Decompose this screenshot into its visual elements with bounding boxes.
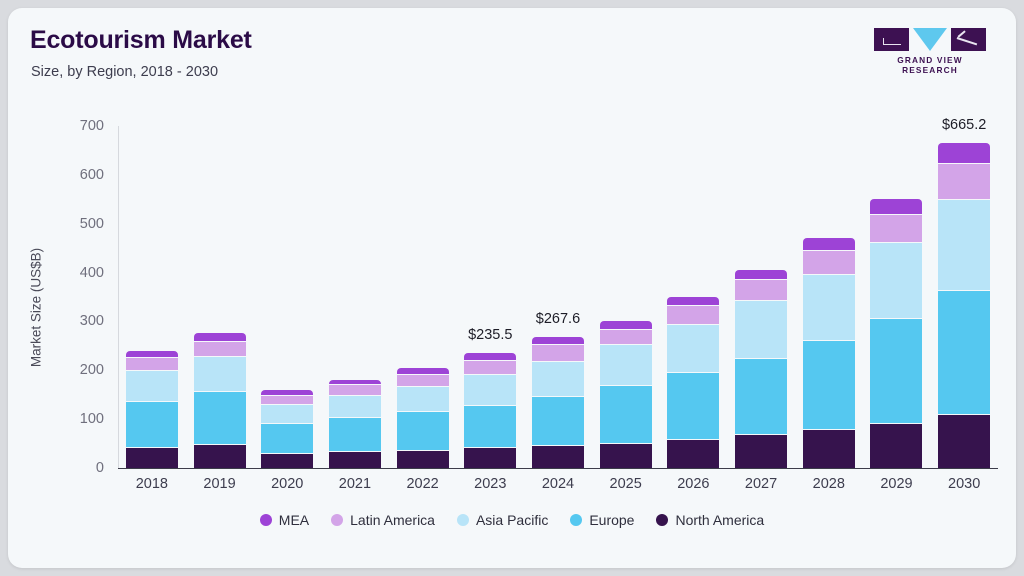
bar-group[interactable]: $665.22030 <box>930 104 998 468</box>
bar-group[interactable]: 2026 <box>660 104 728 468</box>
legend-swatch-icon <box>260 514 272 526</box>
x-axis-tick: 2027 <box>745 476 777 492</box>
bar-segment[interactable] <box>870 423 922 468</box>
x-axis-tick: 2026 <box>677 476 709 492</box>
bar-stack <box>261 390 313 468</box>
bar-segment[interactable] <box>667 372 719 438</box>
bar-segment[interactable] <box>532 337 584 344</box>
bar-segment[interactable] <box>938 143 990 163</box>
legend-label: Europe <box>589 512 634 528</box>
bar-group[interactable]: 2025 <box>592 104 660 468</box>
bar-stack <box>667 297 719 468</box>
bar-group[interactable]: 2021 <box>321 104 389 468</box>
bar-segment[interactable] <box>464 360 516 374</box>
bar-stack <box>532 337 584 468</box>
bar-segment[interactable] <box>261 395 313 404</box>
x-axis-tick: 2030 <box>948 476 980 492</box>
x-axis-tick: 2029 <box>880 476 912 492</box>
bar-value-label: $267.6 <box>536 311 580 327</box>
bar-stack <box>803 238 855 468</box>
legend-swatch-icon <box>331 514 343 526</box>
bar-stack <box>464 353 516 468</box>
bar-segment[interactable] <box>397 374 449 386</box>
legend-item[interactable]: North America <box>656 512 764 528</box>
logo-box-g-icon <box>874 28 909 51</box>
logo-triangle-icon <box>913 28 947 51</box>
bar-segment[interactable] <box>735 358 787 435</box>
bar-segment[interactable] <box>532 396 584 446</box>
bar-segment[interactable] <box>532 445 584 468</box>
bar-stack <box>126 351 178 468</box>
y-axis-tick: 200 <box>60 362 104 378</box>
x-axis-tick: 2019 <box>203 476 235 492</box>
bar-segment[interactable] <box>735 434 787 468</box>
y-axis-tick: 600 <box>60 167 104 183</box>
legend-label: Asia Pacific <box>476 512 548 528</box>
bar-segment[interactable] <box>803 274 855 339</box>
logo-box-r-icon <box>951 28 986 51</box>
bar-segment[interactable] <box>126 447 178 468</box>
bar-segment[interactable] <box>870 214 922 242</box>
bar-segment[interactable] <box>532 344 584 360</box>
bar-segment[interactable] <box>532 361 584 396</box>
bar-segment[interactable] <box>600 344 652 385</box>
bar-stack <box>397 368 449 468</box>
x-axis-tick: 2018 <box>136 476 168 492</box>
page-title: Ecotourism Market <box>30 26 252 55</box>
legend-label: North America <box>675 512 764 528</box>
bar-group[interactable]: 2028 <box>795 104 863 468</box>
legend-label: Latin America <box>350 512 435 528</box>
y-axis-ticks: 0100200300400500600700 <box>60 104 104 468</box>
bar-stack <box>938 143 990 468</box>
x-axis-tick: 2028 <box>813 476 845 492</box>
bar-segment[interactable] <box>803 238 855 250</box>
bar-segment[interactable] <box>735 270 787 280</box>
bar-segment[interactable] <box>870 318 922 423</box>
bar-segment[interactable] <box>261 404 313 423</box>
bar-segment[interactable] <box>803 250 855 274</box>
bar-segment[interactable] <box>329 417 381 451</box>
bar-segment[interactable] <box>600 329 652 345</box>
bar-segment[interactable] <box>126 357 178 370</box>
bar-stack <box>329 380 381 468</box>
bar-segment[interactable] <box>938 414 990 468</box>
chart-subtitle: Size, by Region, 2018 - 2030 <box>31 64 218 80</box>
bar-group[interactable]: $235.52023 <box>456 104 524 468</box>
chart-plot-area: Market Size (US$B) 010020030040050060070… <box>8 104 1016 568</box>
y-axis-tick: 700 <box>60 118 104 134</box>
bar-segment[interactable] <box>464 405 516 448</box>
chart-legend: MEALatin AmericaAsia PacificEuropeNorth … <box>8 512 1016 528</box>
y-axis-tick: 0 <box>60 460 104 476</box>
bar-segment[interactable] <box>667 305 719 324</box>
x-axis-line <box>118 468 998 469</box>
bar-segment[interactable] <box>667 297 719 306</box>
legend-swatch-icon <box>656 514 668 526</box>
x-axis-tick: 2020 <box>271 476 303 492</box>
bar-segment[interactable] <box>194 356 246 391</box>
bar-series-container: 20182019202020212022$235.52023$267.62024… <box>118 104 998 468</box>
bar-segment[interactable] <box>667 324 719 372</box>
legend-item[interactable]: MEA <box>260 512 309 528</box>
y-axis-tick: 100 <box>60 411 104 427</box>
y-axis-tick: 400 <box>60 265 104 281</box>
bar-segment[interactable] <box>329 384 381 395</box>
x-axis-tick: 2021 <box>339 476 371 492</box>
bar-segment[interactable] <box>194 333 246 340</box>
logo-g-glyph <box>883 38 901 45</box>
bar-stack <box>194 333 246 468</box>
bar-segment[interactable] <box>194 391 246 444</box>
legend-item[interactable]: Latin America <box>331 512 435 528</box>
bar-segment[interactable] <box>870 199 922 213</box>
bar-segment[interactable] <box>397 386 449 411</box>
legend-label: MEA <box>279 512 309 528</box>
chart-header: Ecotourism Market Size, by Region, 2018 … <box>8 8 1016 104</box>
bar-value-label: $665.2 <box>942 117 986 133</box>
bar-segment[interactable] <box>735 300 787 357</box>
bar-segment[interactable] <box>938 163 990 200</box>
bar-segment[interactable] <box>600 321 652 329</box>
bar-stack <box>735 270 787 468</box>
bar-segment[interactable] <box>938 199 990 289</box>
bar-group[interactable]: 2018 <box>118 104 186 468</box>
bar-segment[interactable] <box>600 443 652 468</box>
x-axis-tick: 2023 <box>474 476 506 492</box>
bar-segment[interactable] <box>803 429 855 468</box>
logo-r-glyph <box>957 34 979 45</box>
x-axis-tick: 2024 <box>542 476 574 492</box>
y-axis-tick: 500 <box>60 216 104 232</box>
bar-segment[interactable] <box>261 453 313 468</box>
bar-segment[interactable] <box>329 451 381 468</box>
bar-segment[interactable] <box>667 439 719 468</box>
bar-segment[interactable] <box>464 374 516 404</box>
brand-logo: GRAND VIEW RESEARCH <box>874 28 986 70</box>
legend-item[interactable]: Europe <box>570 512 634 528</box>
bar-segment[interactable] <box>600 385 652 442</box>
bar-group[interactable]: 2029 <box>863 104 931 468</box>
bar-segment[interactable] <box>735 279 787 300</box>
logo-text: GRAND VIEW RESEARCH <box>874 55 986 75</box>
bar-group[interactable]: 2020 <box>253 104 321 468</box>
bar-stack <box>600 321 652 469</box>
y-axis-tick: 300 <box>60 313 104 329</box>
chart-card: Ecotourism Market Size, by Region, 2018 … <box>8 8 1016 568</box>
bar-segment[interactable] <box>194 444 246 468</box>
bar-segment[interactable] <box>329 395 381 417</box>
bar-segment[interactable] <box>261 423 313 453</box>
bar-segment[interactable] <box>397 411 449 450</box>
bar-group[interactable]: $267.62024 <box>524 104 592 468</box>
bar-segment[interactable] <box>194 341 246 357</box>
bar-value-label: $235.5 <box>468 327 512 343</box>
logo-marks <box>874 28 986 51</box>
bar-segment[interactable] <box>397 450 449 468</box>
bar-segment[interactable] <box>464 447 516 468</box>
bar-group[interactable]: 2027 <box>727 104 795 468</box>
bar-segment[interactable] <box>126 401 178 447</box>
bar-group[interactable]: 2019 <box>186 104 254 468</box>
bar-segment[interactable] <box>938 290 990 415</box>
bar-segment[interactable] <box>464 353 516 360</box>
bar-segment[interactable] <box>870 242 922 318</box>
x-axis-tick: 2025 <box>610 476 642 492</box>
legend-item[interactable]: Asia Pacific <box>457 512 548 528</box>
bar-segment[interactable] <box>126 370 178 401</box>
x-axis-tick: 2022 <box>406 476 438 492</box>
bar-group[interactable]: 2022 <box>389 104 457 468</box>
bar-stack <box>870 199 922 468</box>
y-axis-label: Market Size (US$B) <box>29 218 44 398</box>
bar-segment[interactable] <box>803 340 855 429</box>
legend-swatch-icon <box>457 514 469 526</box>
legend-swatch-icon <box>570 514 582 526</box>
